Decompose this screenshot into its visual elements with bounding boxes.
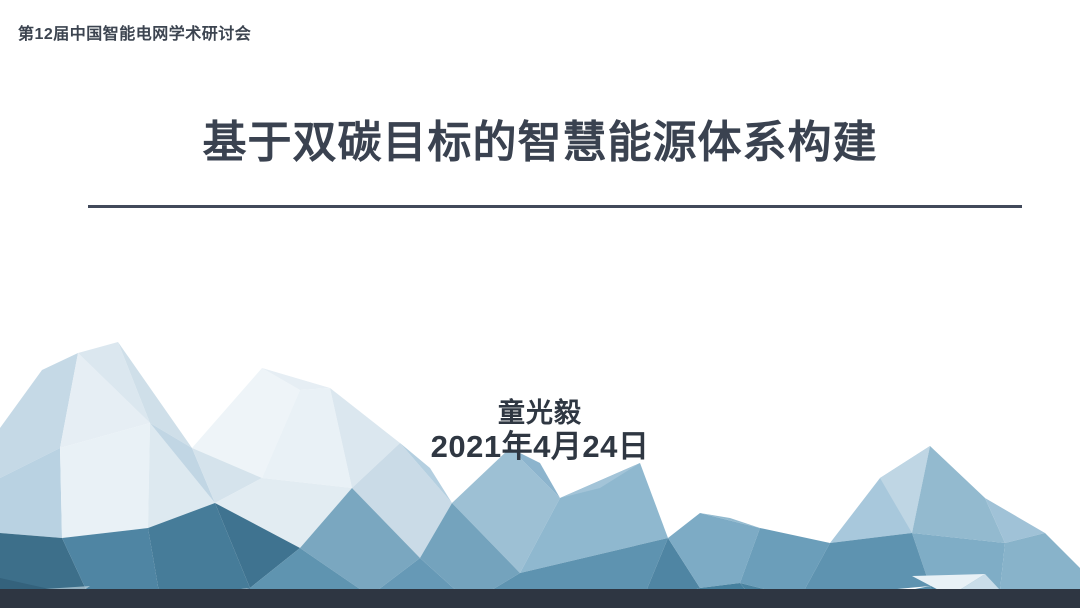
page-title: 基于双碳目标的智慧能源体系构建	[0, 106, 1080, 170]
presenter-name: 童光毅	[0, 398, 1080, 429]
bottom-band	[0, 589, 1080, 608]
presentation-date: 2021年4月24日	[0, 429, 1080, 465]
title-divider	[88, 205, 1022, 208]
conference-header: 第12届中国智能电网学术研讨会	[18, 20, 251, 44]
presentation-slide: 第12届中国智能电网学术研讨会 基于双碳目标的智慧能源体系构建	[0, 0, 1080, 608]
mountain-polygons	[0, 328, 1080, 608]
presenter-block: 童光毅 2021年4月24日	[0, 398, 1080, 465]
mountain-artwork	[0, 328, 1080, 608]
